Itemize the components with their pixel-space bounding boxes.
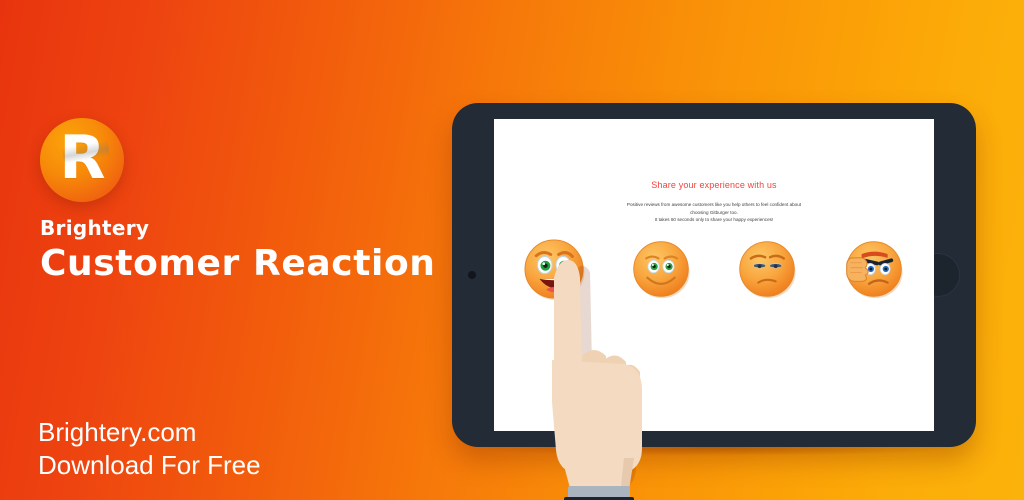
sad-icon <box>736 238 798 300</box>
logo-letter: R <box>59 128 104 188</box>
camera-icon <box>468 271 476 279</box>
tablet-screen: Share your experience with us Positive r… <box>494 119 934 431</box>
tablet-device: Share your experience with us Positive r… <box>452 103 976 447</box>
footer-cta: Download For Free <box>38 449 261 482</box>
brand-block: R Brightery Customer Reaction <box>40 118 460 286</box>
brightery-logo: R <box>40 118 124 202</box>
page-title: Customer Reaction <box>40 242 460 286</box>
banner-stage: R Brightery Customer Reaction Brightery.… <box>0 0 1024 500</box>
angry-icon <box>843 238 905 300</box>
survey-title: Share your experience with us <box>494 180 934 190</box>
footer-website[interactable]: Brightery.com <box>38 416 261 449</box>
reaction-angry[interactable] <box>824 231 924 307</box>
happy-icon <box>630 238 692 300</box>
survey-subtitle-line-2: choosing Gitburger too. <box>522 209 906 217</box>
reaction-happy[interactable] <box>611 231 711 307</box>
survey-subtitle: Positive reviews from awesome customers … <box>522 201 906 224</box>
survey-subtitle-line-3: It takes 60 seconds only to share your h… <box>522 216 906 224</box>
reaction-very-happy[interactable] <box>504 231 604 307</box>
footer-text: Brightery.com Download For Free <box>38 416 261 482</box>
reaction-sad[interactable] <box>717 231 817 307</box>
thumbs-down-icon <box>847 258 868 282</box>
brand-name: Brightery <box>40 216 460 240</box>
very-happy-icon <box>521 236 587 302</box>
reaction-row <box>504 231 924 307</box>
survey-subtitle-line-1: Positive reviews from awesome customers … <box>522 201 906 209</box>
sleeve-cuff <box>568 486 630 498</box>
